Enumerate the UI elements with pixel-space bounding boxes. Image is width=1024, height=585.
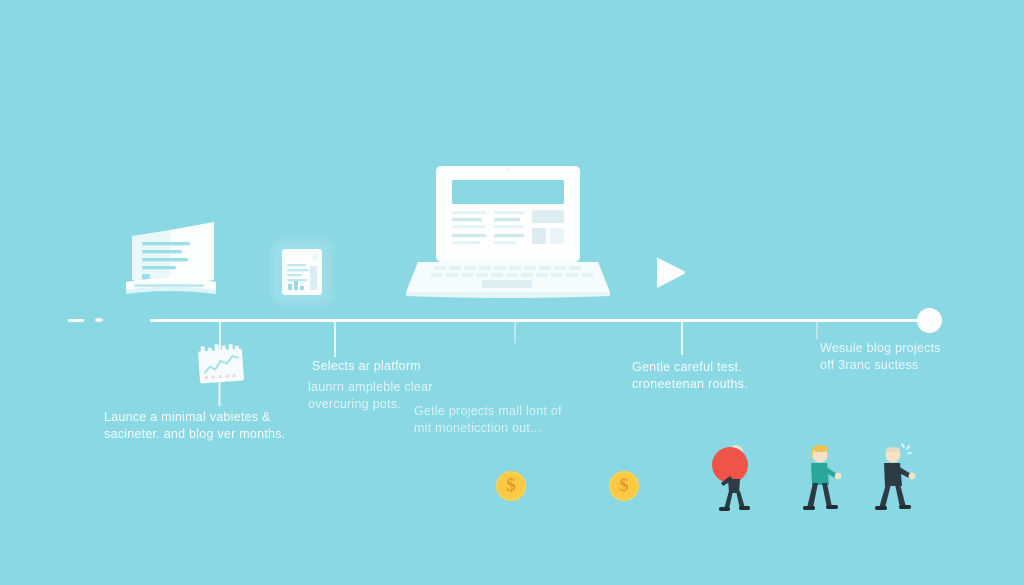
milestone-5-label: Wesule blog projects off 3ranc suctess (820, 340, 960, 374)
person-teal-shirt (799, 444, 851, 514)
infographic-canvas: Launce a minimal vabietes & sacineter. a… (0, 0, 1024, 585)
laptop-icon (404, 166, 612, 300)
milestone-4-label: Gentle careful test. croneetenan rouths. (632, 359, 812, 393)
timeline-tick-3 (514, 321, 516, 343)
milestone-2-heading: Selects ar platform (312, 358, 482, 375)
timeline-leading-dash-1 (68, 319, 84, 322)
person-dark-suit (871, 443, 927, 513)
milestone-3-label: Getle projects mall lont of mit moneticc… (414, 403, 594, 437)
milestone-1-label: Launce a minimal vabietes & sacineter. a… (104, 409, 314, 443)
dollar-coin-icon: $ (609, 471, 639, 501)
play-triangle-icon (651, 256, 687, 290)
dollar-coin-icon: $ (496, 471, 526, 501)
person-with-red-balloon (703, 443, 765, 513)
timeline-end-marker (917, 308, 942, 333)
timeline-axis (150, 319, 930, 322)
timeline-tick-5 (816, 321, 818, 339)
report-document-icon (281, 248, 323, 296)
timeline-tick-2 (334, 321, 336, 357)
timeline-leading-dash-2 (95, 318, 103, 322)
open-book-icon (118, 214, 222, 302)
chart-pin-icon (193, 344, 249, 406)
timeline-tick-4 (681, 321, 683, 355)
